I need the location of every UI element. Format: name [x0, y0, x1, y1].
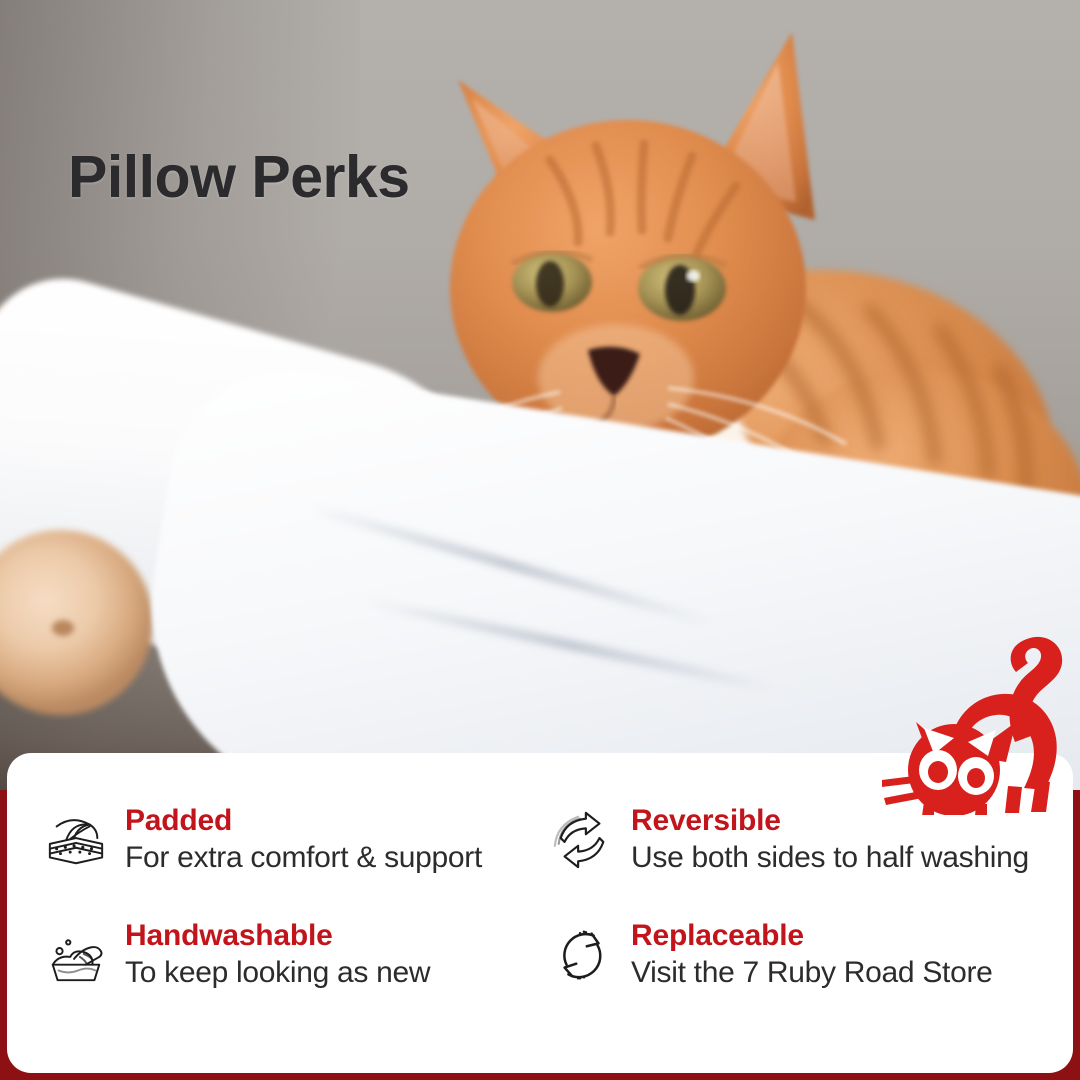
reversible-arrows-icon [551, 809, 613, 871]
red-cat-logo [880, 630, 1080, 815]
feature-replaceable: Replaceable Visit the 7 Ruby Road Store [551, 920, 1047, 1029]
handwash-basin-icon [45, 924, 107, 986]
feature-reversible-text: Reversible Use both sides to half washin… [631, 805, 1029, 877]
feature-handwashable-title: Handwashable [125, 920, 430, 952]
feature-padded-title: Padded [125, 805, 482, 837]
padded-mattress-feather-icon [45, 809, 107, 871]
feature-replaceable-text: Replaceable Visit the 7 Ruby Road Store [631, 920, 993, 992]
feature-reversible: Reversible Use both sides to half washin… [551, 805, 1047, 914]
page-title: Pillow Perks [68, 143, 410, 211]
feature-replaceable-subtitle: Visit the 7 Ruby Road Store [631, 955, 993, 992]
feature-padded: Padded For extra comfort & support [45, 805, 541, 914]
replaceable-refresh-icon [551, 924, 613, 986]
feature-reversible-subtitle: Use both sides to half washing [631, 840, 1029, 877]
feature-handwashable-subtitle: To keep looking as new [125, 955, 430, 992]
product-feature-image: Pillow Perks [0, 0, 1080, 1080]
feature-replaceable-title: Replaceable [631, 920, 993, 952]
dowel-knot [52, 620, 74, 636]
feature-handwashable-text: Handwashable To keep looking as new [125, 920, 430, 992]
feature-padded-subtitle: For extra comfort & support [125, 840, 482, 877]
feature-handwashable: Handwashable To keep looking as new [45, 920, 541, 1029]
feature-padded-text: Padded For extra comfort & support [125, 805, 482, 877]
replaceable-dots [577, 931, 587, 980]
